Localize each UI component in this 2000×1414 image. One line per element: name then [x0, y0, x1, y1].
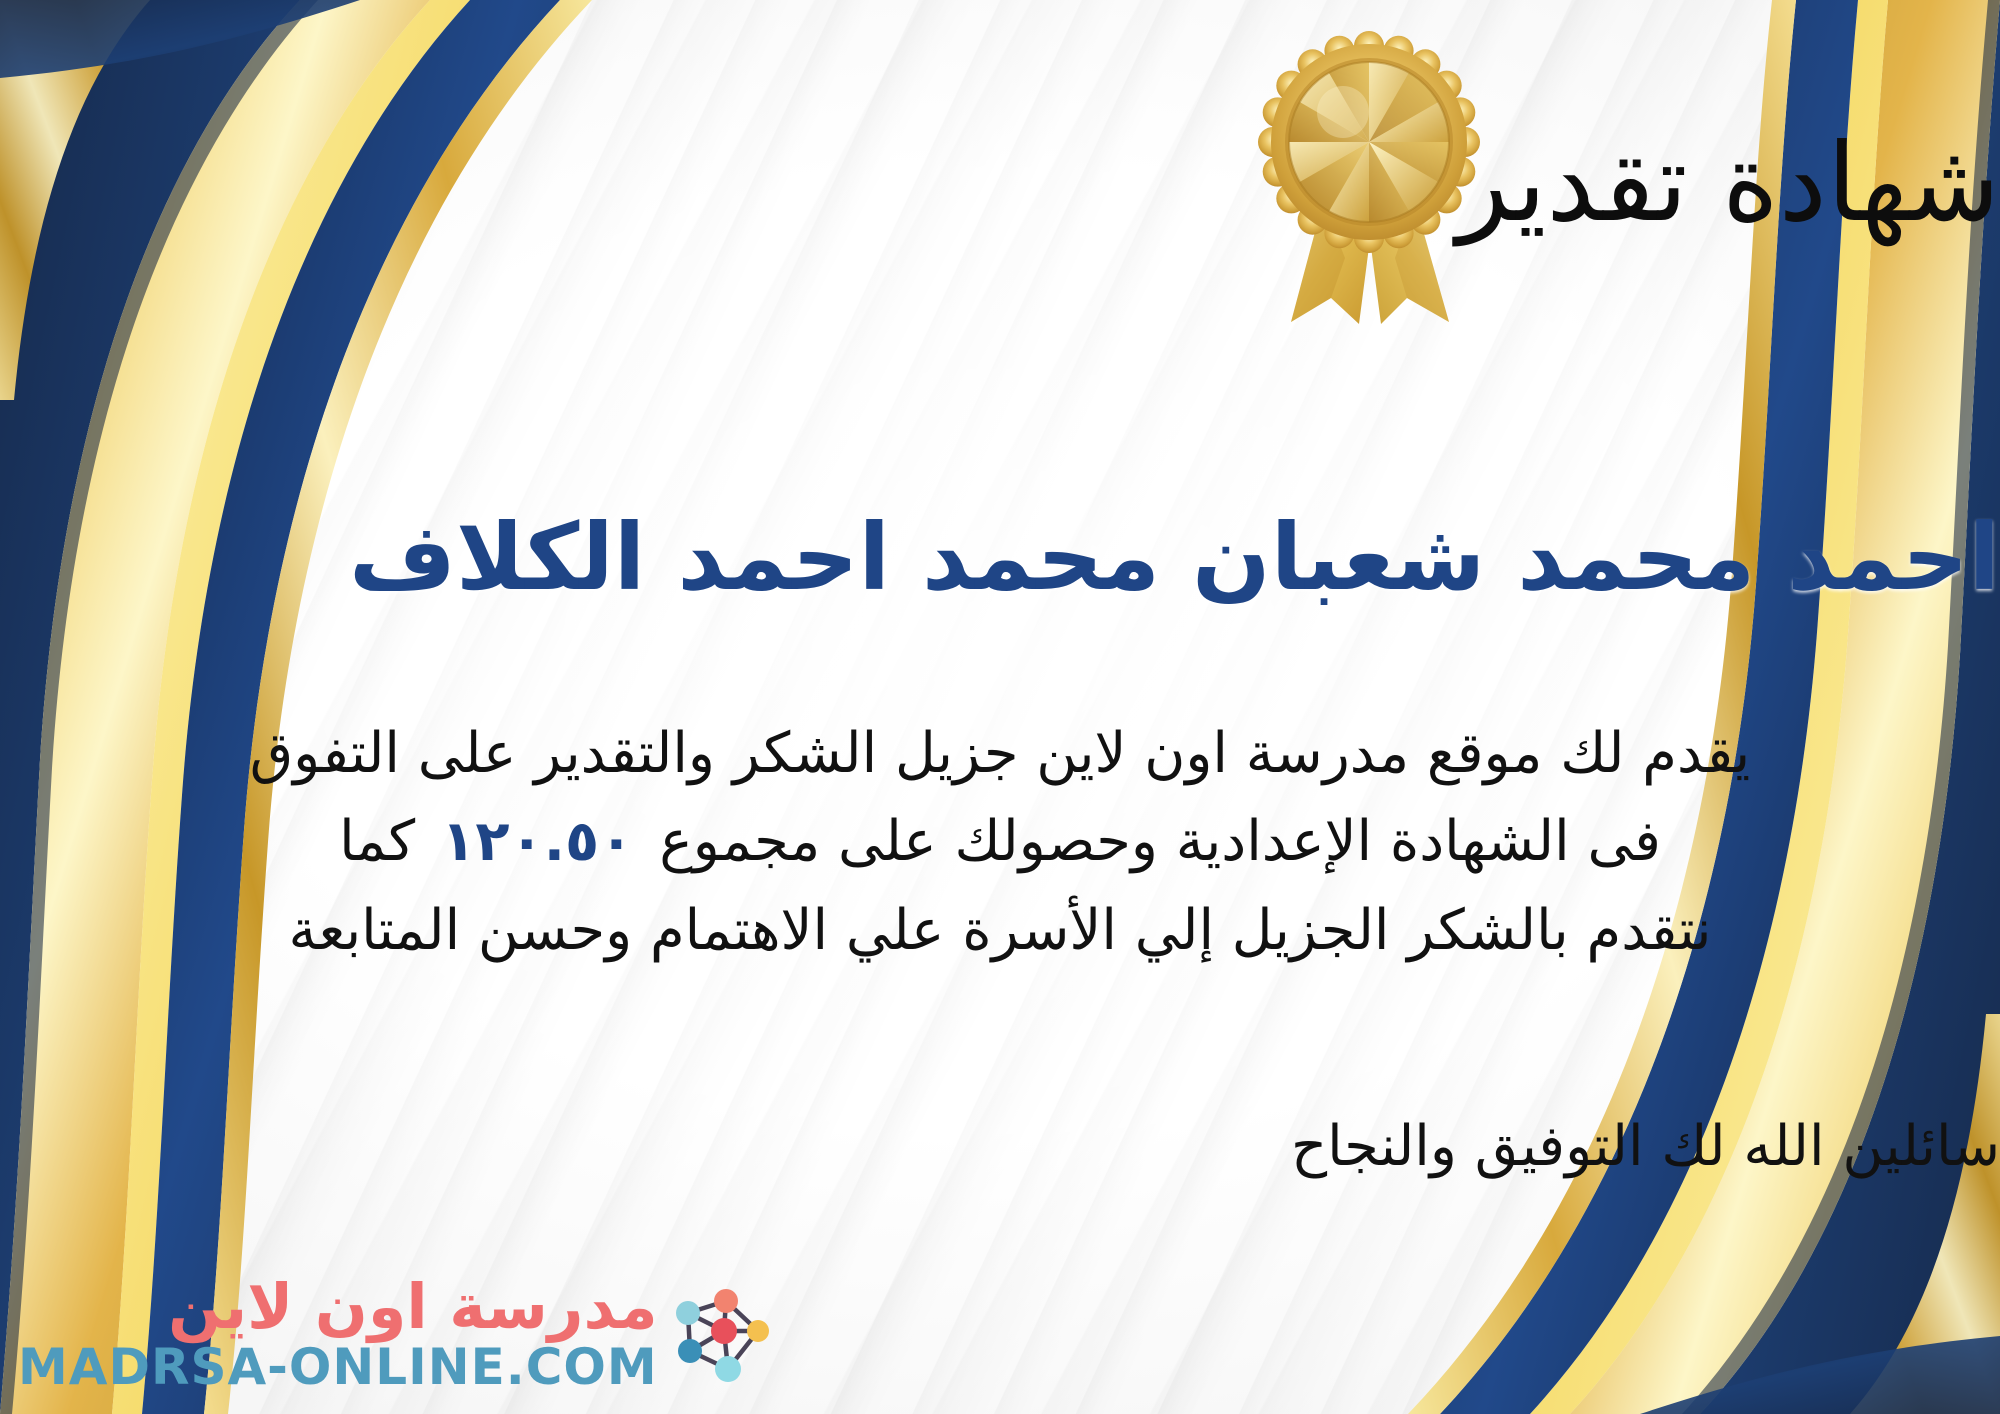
- certificate-body: يقدم لك موقع مدرسة اون لاين جزيل الشكر و…: [235, 710, 1765, 975]
- body-line-2-prefix: فى الشهادة الإعدادية وحصولك على مجموع: [659, 809, 1661, 874]
- body-line-2-suffix: كما: [339, 809, 415, 874]
- student-name: احمد محمد شعبان محمد احمد الكلاف: [0, 500, 2000, 615]
- certificate-title: شهادة تقدير: [0, 118, 2000, 250]
- body-line-1: يقدم لك موقع مدرسة اون لاين جزيل الشكر و…: [235, 710, 1765, 798]
- network-nodes-icon: [666, 1279, 770, 1389]
- brand-text: مدرسة اون لاين MADRSA-ONLINE.COM: [18, 1276, 658, 1392]
- closing-wish: سائلين الله لك التوفيق والنجاح: [0, 1105, 2000, 1189]
- brand-url: MADRSA-ONLINE.COM: [18, 1342, 658, 1392]
- certificate-page: شهادة تقدير احمد محمد شعبان محمد احمد ال…: [0, 0, 2000, 1414]
- body-line-3: نتقدم بالشكر الجزيل إلي الأسرة علي الاهت…: [235, 887, 1765, 975]
- grade-value: ١٢٠.٥٠: [415, 809, 659, 874]
- brand-logo[interactable]: مدرسة اون لاين MADRSA-ONLINE.COM: [18, 1276, 770, 1392]
- body-line-2: فى الشهادة الإعدادية وحصولك على مجموع١٢٠…: [235, 798, 1765, 886]
- brand-arabic-name: مدرسة اون لاين: [168, 1276, 658, 1338]
